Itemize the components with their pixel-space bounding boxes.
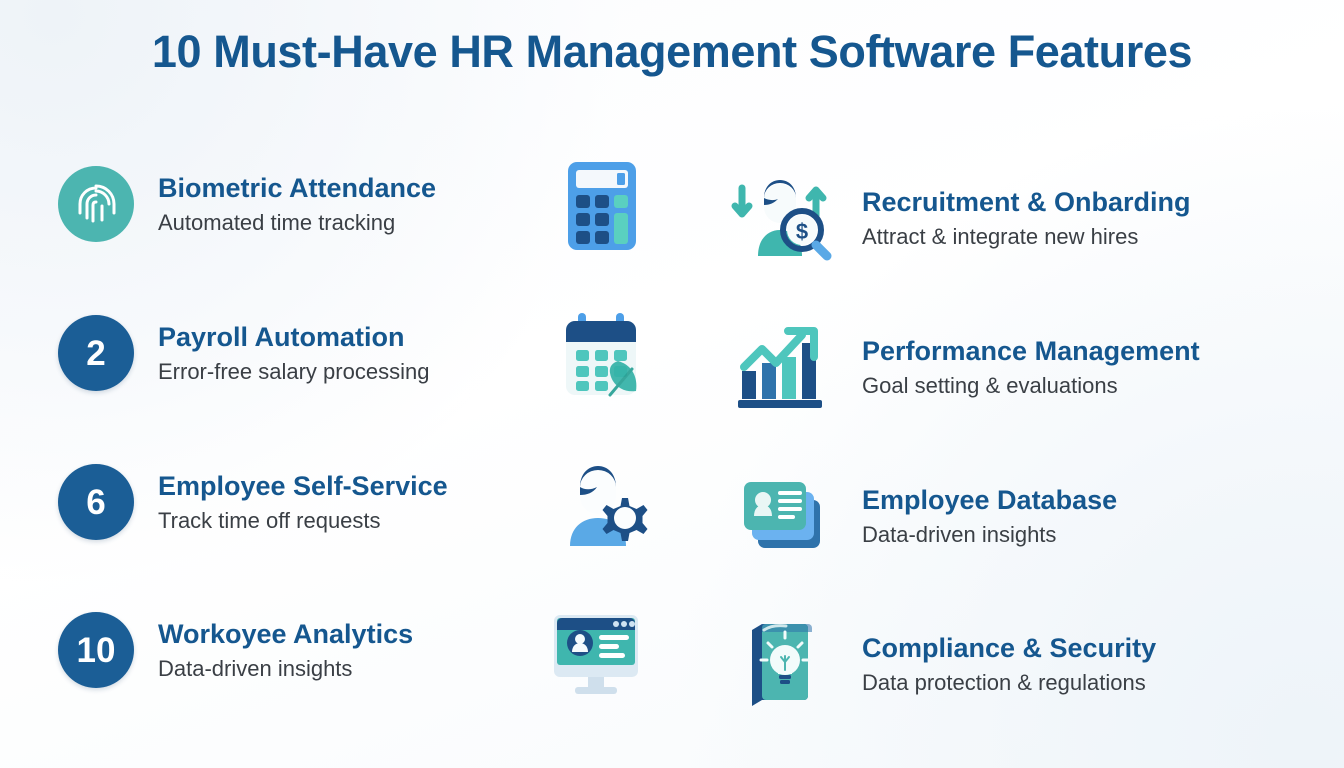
svg-text:$: $ <box>796 219 808 244</box>
recruitment-search-icon: $ <box>728 168 832 268</box>
dashboard-monitor-icon-slot <box>542 602 650 706</box>
feature-title: Recruitment & Onbarding <box>862 187 1191 217</box>
feature-subtitle: Data-driven insights <box>862 522 1117 547</box>
user-gear-icon-slot <box>548 452 656 556</box>
feature-subtitle: Error-free salary processing <box>158 359 429 384</box>
badge-number: 10 <box>58 612 134 688</box>
growth-chart-icon-slot <box>726 315 834 419</box>
feature-item-compliance-security[interactable]: Compliance & Security Data protection & … <box>726 612 1286 716</box>
feature-grid: Biometric Attendance Automated time trac… <box>0 166 1344 748</box>
recruitment-icon-slot: $ <box>726 166 834 270</box>
feature-title: Workoyee Analytics <box>158 619 413 649</box>
feature-subtitle: Data protection & regulations <box>862 670 1156 695</box>
dashboard-monitor-icon <box>544 605 648 703</box>
feature-item-performance-management[interactable]: Performance Management Goal setting & ev… <box>726 315 1286 419</box>
feature-text-block: Biometric Attendance Automated time trac… <box>158 173 436 236</box>
feature-item-payroll-automation[interactable]: 2 Payroll Automation Error-free salary p… <box>58 315 558 391</box>
book-lightbulb-icon <box>734 614 826 714</box>
feature-item-recruitment-onboarding[interactable]: $ Recruitment & Onbarding Attract & inte… <box>726 166 1286 270</box>
book-lightbulb-icon-slot <box>726 612 834 716</box>
feature-number-badge: 6 <box>58 464 134 540</box>
fingerprint-badge <box>58 166 134 242</box>
feature-text-block: Employee Database Data-driven insights <box>862 485 1117 548</box>
badge-number: 6 <box>58 464 134 540</box>
infographic-poster: 10 Must-Have HR Management Software Feat… <box>0 0 1344 768</box>
feature-text-block: Payroll Automation Error-free salary pro… <box>158 322 429 385</box>
feature-subtitle: Attract & integrate new hires <box>862 224 1191 249</box>
page-title: 10 Must-Have HR Management Software Feat… <box>0 26 1344 78</box>
feature-title: Payroll Automation <box>158 322 429 352</box>
calendar-leaf-icon <box>554 303 650 407</box>
feature-item-employee-self-service[interactable]: 6 Employee Self-Service Track time off r… <box>58 464 558 540</box>
feature-text-block: Workoyee Analytics Data-driven insights <box>158 619 413 682</box>
feature-item-biometric-attendance[interactable]: Biometric Attendance Automated time trac… <box>58 166 558 242</box>
calendar-icon-slot <box>548 303 656 407</box>
feature-number-badge: 2 <box>58 315 134 391</box>
feature-text-block: Employee Self-Service Track time off req… <box>158 471 448 534</box>
user-gear-icon <box>554 454 650 554</box>
feature-text-block: Compliance & Security Data protection & … <box>862 633 1156 696</box>
badge-number: 2 <box>58 315 134 391</box>
feature-item-employee-database[interactable]: Employee Database Data-driven insights <box>726 464 1286 568</box>
feature-title: Employee Database <box>862 485 1117 515</box>
id-cards-icon <box>730 468 830 564</box>
id-cards-icon-slot <box>726 464 834 568</box>
growth-chart-icon <box>730 319 830 415</box>
feature-text-block: Recruitment & Onbarding Attract & integr… <box>862 187 1191 250</box>
feature-text-block: Performance Management Goal setting & ev… <box>862 336 1200 399</box>
feature-title: Compliance & Security <box>862 633 1156 663</box>
feature-subtitle: Goal setting & evaluations <box>862 373 1200 398</box>
feature-item-workoyee-analytics[interactable]: 10 Workoyee Analytics Data-driven insigh… <box>58 612 558 688</box>
feature-title: Performance Management <box>862 336 1200 366</box>
feature-subtitle: Data-driven insights <box>158 656 413 681</box>
feature-title: Employee Self-Service <box>158 471 448 501</box>
feature-subtitle: Automated time tracking <box>158 210 436 235</box>
calculator-icon-slot <box>548 154 656 258</box>
fingerprint-icon <box>58 166 134 242</box>
feature-number-badge: 10 <box>58 612 134 688</box>
calculator-icon <box>556 154 648 258</box>
feature-title: Biometric Attendance <box>158 173 436 203</box>
feature-subtitle: Track time off requests <box>158 508 448 533</box>
